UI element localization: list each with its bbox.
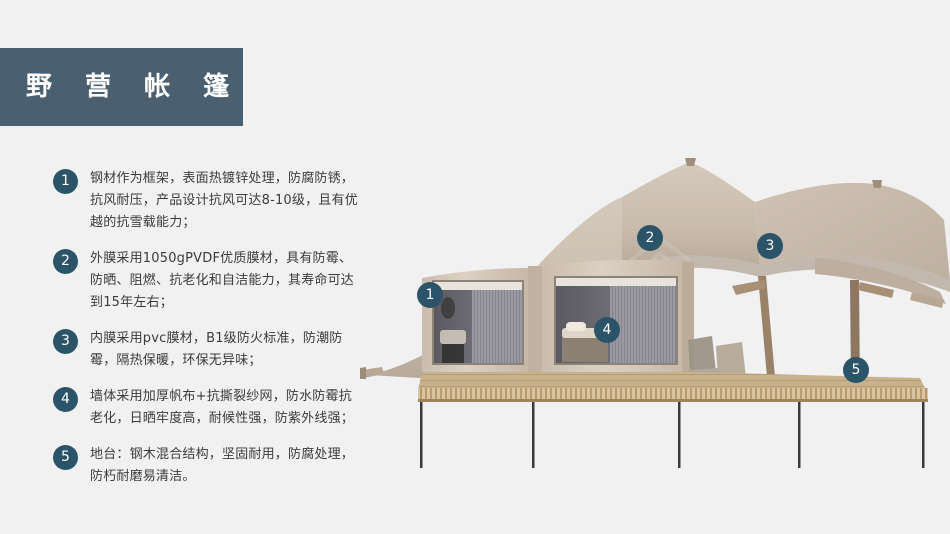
tent-illustration: 野邦营居 — [360, 140, 950, 470]
cabin-center-post — [528, 266, 544, 373]
window-left-curtain — [472, 290, 522, 363]
feature-text-3: 内膜采用pvc膜材，B1级防火标准，防潮防霉，隔热保暖，环保无异味； — [90, 328, 358, 372]
terrace-pole-left — [758, 276, 776, 388]
list-item: 2 外膜采用1050gPVDF优质膜材，具有防霉、防晒、阻燃、抗老化和自洁能力，… — [53, 248, 358, 314]
deck-leg-2 — [532, 402, 535, 468]
feature-badge-4: 4 — [53, 387, 78, 412]
list-item: 3 内膜采用pvc膜材，B1级防火标准，防潮防霉，隔热保暖，环保无异味； — [53, 328, 358, 372]
image-marker-4[interactable]: 4 — [594, 317, 620, 343]
page-title-bar: 野 营 帐 篷 — [0, 48, 243, 126]
list-item: 1 钢材作为框架，表面热镀锌处理，防腐防锈，抗风耐压，产品设计抗风可达8-10级… — [53, 168, 358, 234]
deck-edge-band — [418, 388, 928, 400]
feature-text-5: 地台：钢木混合结构，坚固耐用，防腐处理，防朽耐磨易清洁。 — [90, 444, 358, 488]
list-item: 4 墙体采用加厚帆布+抗撕裂纱网，防水防霉抗老化，日晒牢度高，耐候性强，防紫外线… — [53, 386, 358, 430]
feature-badge-2: 2 — [53, 249, 78, 274]
image-marker-3[interactable]: 3 — [757, 233, 783, 259]
list-item: 5 地台：钢木混合结构，坚固耐用，防腐处理，防朽耐磨易清洁。 — [53, 444, 358, 488]
deck-edge-base — [418, 399, 928, 402]
feature-badge-1: 1 — [53, 169, 78, 194]
feature-text-1: 钢材作为框架，表面热镀锌处理，防腐防锈，抗风耐压，产品设计抗风可达8-10级，且… — [90, 168, 358, 234]
canopy-center-left — [622, 162, 760, 270]
bed-pillow — [566, 322, 586, 331]
deck-leg-1 — [420, 402, 423, 468]
deck-leg-5 — [922, 402, 925, 468]
feature-badge-3: 3 — [53, 329, 78, 354]
feature-list: 1 钢材作为框架，表面热镀锌处理，防腐防锈，抗风耐压，产品设计抗风可达8-10级… — [53, 168, 358, 502]
feature-text-4: 墙体采用加厚帆布+抗撕裂纱网，防水防霉抗老化，日晒牢度高，耐候性强，防紫外线强； — [90, 386, 358, 430]
canopy-left-tie-tip — [360, 367, 366, 379]
window-left-header — [434, 282, 522, 290]
image-marker-1[interactable]: 1 — [417, 282, 443, 308]
feature-badge-5: 5 — [53, 445, 78, 470]
deck-leg-3 — [678, 402, 681, 468]
bathroom-mirror-icon — [441, 297, 455, 319]
bathroom-cabinet — [442, 344, 464, 363]
bathroom-vanity — [440, 330, 466, 344]
window-right-curtain — [610, 286, 676, 363]
tent-drawing: 野邦营居 — [360, 140, 950, 470]
deck-leg-4 — [798, 402, 801, 468]
page-title: 野 营 帐 篷 — [0, 74, 241, 100]
window-right-header — [556, 278, 676, 286]
image-marker-2[interactable]: 2 — [637, 225, 663, 251]
image-marker-5[interactable]: 5 — [843, 357, 869, 383]
feature-text-2: 外膜采用1050gPVDF优质膜材，具有防霉、防晒、阻燃、抗老化和自洁能力，其寿… — [90, 248, 358, 314]
